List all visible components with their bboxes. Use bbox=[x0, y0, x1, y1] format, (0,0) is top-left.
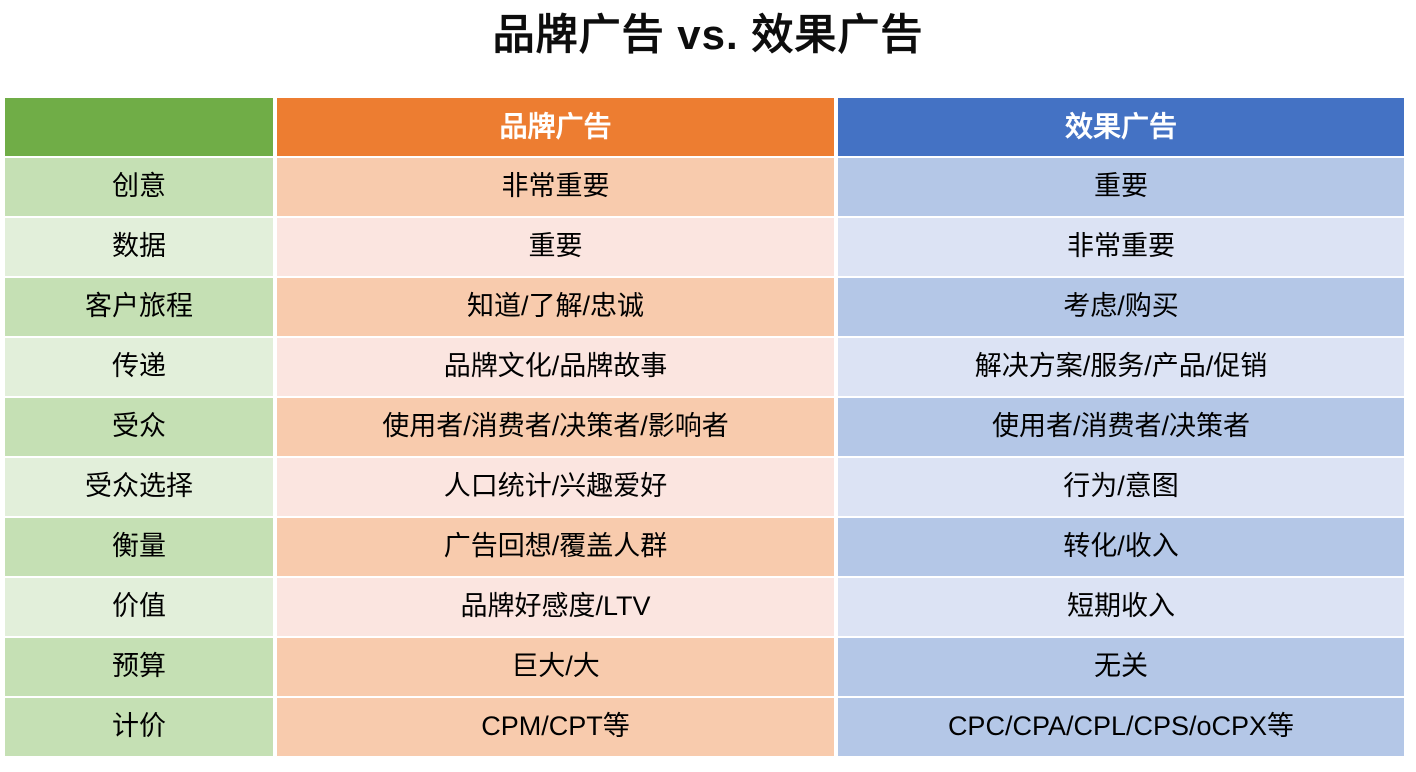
row-label-cell: 传递 bbox=[5, 338, 273, 396]
performance-value-cell: CPC/CPA/CPL/CPS/oCPX等 bbox=[838, 698, 1404, 756]
row-label-cell: 预算 bbox=[5, 638, 273, 696]
performance-value-cell: 考虑/购买 bbox=[838, 278, 1404, 336]
table-row: 数据重要非常重要 bbox=[5, 218, 1404, 276]
row-label-cell: 计价 bbox=[5, 698, 273, 756]
column-header-key bbox=[5, 98, 273, 156]
table-body: 创意非常重要重要数据重要非常重要客户旅程知道/了解/忠诚考虑/购买传递品牌文化/… bbox=[5, 158, 1404, 756]
table-row: 受众选择人口统计/兴趣爱好行为/意图 bbox=[5, 458, 1404, 516]
brand-value-cell: 使用者/消费者/决策者/影响者 bbox=[277, 398, 834, 456]
table-row: 计价CPM/CPT等CPC/CPA/CPL/CPS/oCPX等 bbox=[5, 698, 1404, 756]
table-header-row: 品牌广告 效果广告 bbox=[5, 98, 1404, 156]
brand-value-cell: 品牌好感度/LTV bbox=[277, 578, 834, 636]
performance-value-cell: 解决方案/服务/产品/促销 bbox=[838, 338, 1404, 396]
page-title: 品牌广告 vs. 效果广告 bbox=[0, 0, 1416, 56]
brand-value-cell: 巨大/大 bbox=[277, 638, 834, 696]
brand-value-cell: 非常重要 bbox=[277, 158, 834, 216]
row-label-cell: 受众 bbox=[5, 398, 273, 456]
table-row: 传递品牌文化/品牌故事解决方案/服务/产品/促销 bbox=[5, 338, 1404, 396]
table-row: 衡量广告回想/覆盖人群转化/收入 bbox=[5, 518, 1404, 576]
row-label-cell: 价值 bbox=[5, 578, 273, 636]
brand-value-cell: CPM/CPT等 bbox=[277, 698, 834, 756]
column-header-performance-advertising: 效果广告 bbox=[838, 98, 1404, 156]
brand-value-cell: 品牌文化/品牌故事 bbox=[277, 338, 834, 396]
row-label-cell: 数据 bbox=[5, 218, 273, 276]
comparison-table-container: 品牌广告 效果广告 创意非常重要重要数据重要非常重要客户旅程知道/了解/忠诚考虑… bbox=[5, 98, 1412, 756]
row-label-cell: 客户旅程 bbox=[5, 278, 273, 336]
brand-value-cell: 人口统计/兴趣爱好 bbox=[277, 458, 834, 516]
table-row: 受众使用者/消费者/决策者/影响者使用者/消费者/决策者 bbox=[5, 398, 1404, 456]
performance-value-cell: 无关 bbox=[838, 638, 1404, 696]
performance-value-cell: 行为/意图 bbox=[838, 458, 1404, 516]
brand-value-cell: 重要 bbox=[277, 218, 834, 276]
performance-value-cell: 短期收入 bbox=[838, 578, 1404, 636]
performance-value-cell: 重要 bbox=[838, 158, 1404, 216]
performance-value-cell: 转化/收入 bbox=[838, 518, 1404, 576]
table-header: 品牌广告 效果广告 bbox=[5, 98, 1404, 156]
comparison-table-slide: 品牌广告 vs. 效果广告 品牌广告 效果广告 创意非常重要重要数据重要非常重要… bbox=[0, 0, 1416, 772]
column-header-brand-advertising: 品牌广告 bbox=[277, 98, 834, 156]
table-row: 预算巨大/大无关 bbox=[5, 638, 1404, 696]
table-row: 价值品牌好感度/LTV短期收入 bbox=[5, 578, 1404, 636]
comparison-table: 品牌广告 效果广告 创意非常重要重要数据重要非常重要客户旅程知道/了解/忠诚考虑… bbox=[1, 96, 1408, 758]
table-row: 创意非常重要重要 bbox=[5, 158, 1404, 216]
row-label-cell: 创意 bbox=[5, 158, 273, 216]
brand-value-cell: 知道/了解/忠诚 bbox=[277, 278, 834, 336]
row-label-cell: 衡量 bbox=[5, 518, 273, 576]
table-row: 客户旅程知道/了解/忠诚考虑/购买 bbox=[5, 278, 1404, 336]
performance-value-cell: 使用者/消费者/决策者 bbox=[838, 398, 1404, 456]
performance-value-cell: 非常重要 bbox=[838, 218, 1404, 276]
brand-value-cell: 广告回想/覆盖人群 bbox=[277, 518, 834, 576]
row-label-cell: 受众选择 bbox=[5, 458, 273, 516]
